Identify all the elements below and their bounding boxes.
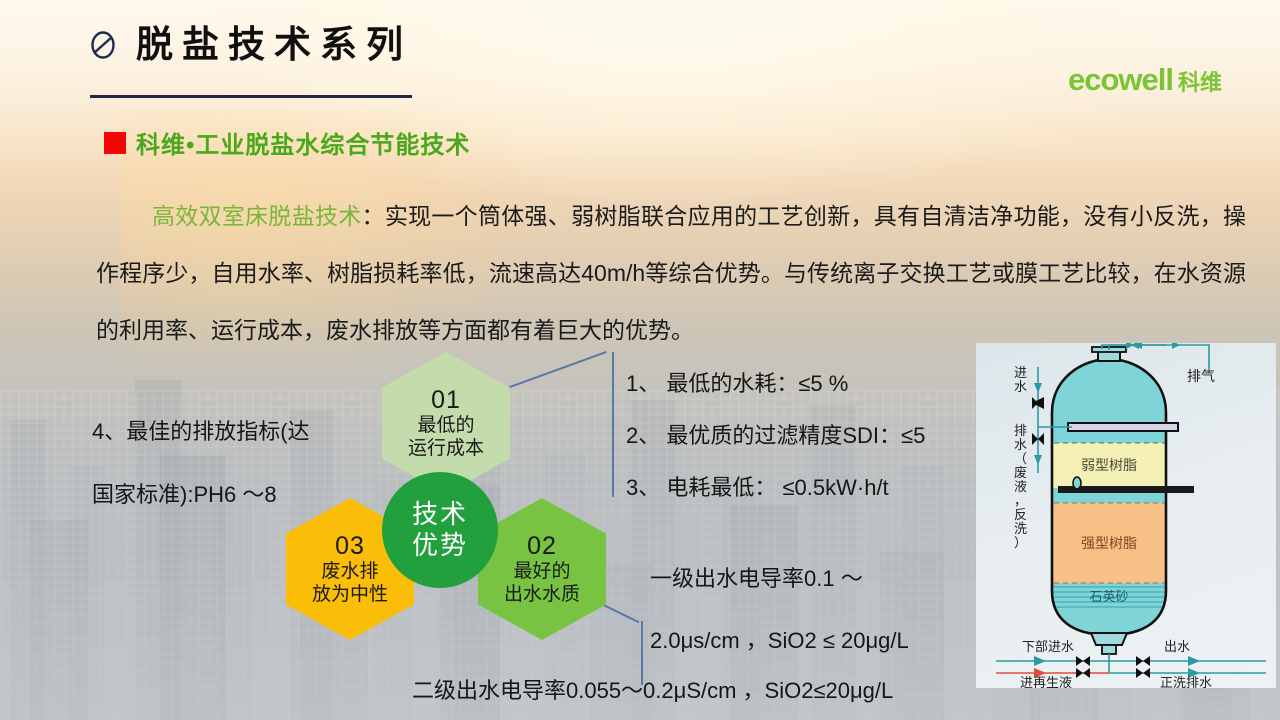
intro-paragraph: 高效双室床脱盐技术：实现一个筒体强、弱树脂联合应用的工艺创新，具有自清洁净功能，… bbox=[96, 188, 1246, 359]
hexagon-03-line2: 放为中性 bbox=[312, 584, 388, 606]
title-divider bbox=[90, 95, 412, 98]
diagram-label-drain: 排水（废液，反洗） bbox=[1014, 423, 1027, 550]
hexagon-advantage-02[interactable]: 02 最好的 出水水质 bbox=[478, 498, 606, 640]
callout-bottom: 二级出水电导率0.055～0.2μS/cm ，SiO2≤20μg/L bbox=[412, 668, 893, 714]
core-line2: 优势 bbox=[412, 530, 468, 561]
diagram-label-inlet: 进水 bbox=[1014, 365, 1027, 394]
callout-left-line2: 国家标准):PH6 ～8 bbox=[92, 463, 310, 526]
slide-canvas: 脱盐技术系列 科维•工业脱盐水综合节能技术 ecowell 科维 高效双室床脱盐… bbox=[0, 0, 1280, 720]
hexagon-01-line1: 最低的 bbox=[417, 415, 474, 437]
callout-right-list: 1、 最低的水耗：≤5 % 2、 最优质的过滤精度SDI：≤5 3、 电耗最低：… bbox=[626, 358, 925, 514]
advantage-hexagon-cluster: 01 最低的 运行成本 03 废水排 放为中性 02 最好的 出水水质 技术 优… bbox=[282, 352, 612, 652]
diagram-label-weak-resin: 弱型树脂 bbox=[1081, 457, 1137, 473]
hexagon-01-number: 01 bbox=[431, 386, 461, 415]
red-square-bullet-icon bbox=[104, 132, 126, 154]
hexagon-core-circle[interactable]: 技术 优势 bbox=[382, 472, 498, 588]
callout-mid-right-line1: 一级出水电导率0.1 ～ bbox=[650, 548, 909, 610]
diagram-label-bottom-inlet: 下部进水 bbox=[1022, 639, 1074, 654]
hexagon-01-line2: 运行成本 bbox=[408, 438, 484, 460]
callout-left-line1: 4、最佳的排放指标(达 bbox=[92, 400, 310, 463]
vessel-diagram-svg: 排气 进水 排水（废液，反洗） 弱型树脂 强型树脂 石英砂 bbox=[976, 343, 1276, 688]
callout-left: 4、最佳的排放指标(达 国家标准):PH6 ～8 bbox=[92, 400, 310, 526]
hexagon-03-number: 03 bbox=[335, 532, 365, 561]
diagram-label-outlet: 出水 bbox=[1164, 639, 1190, 654]
core-line1: 技术 bbox=[412, 499, 468, 530]
diagram-label-vent: 排气 bbox=[1187, 368, 1215, 384]
hexagon-02-line1: 最好的 bbox=[513, 561, 570, 583]
callout-right-item-1: 1、 最低的水耗：≤5 % bbox=[626, 358, 925, 410]
section-subtitle-label: 科维•工业脱盐水综合节能技术 bbox=[136, 125, 470, 160]
diagram-label-regenerant-in: 进再生液 bbox=[1020, 675, 1072, 688]
callout-mid-right-line2: 2.0μs/cm ，SiO2 ≤ 20μg/L bbox=[650, 610, 909, 672]
slide-header: 脱盐技术系列 bbox=[88, 26, 412, 63]
diagram-label-strong-resin: 强型树脂 bbox=[1081, 535, 1137, 551]
slashed-circle-icon bbox=[88, 30, 118, 60]
company-logo: ecowell 科维 bbox=[1068, 64, 1222, 95]
logo-text-en: ecowell bbox=[1068, 64, 1173, 95]
intro-paragraph-highlight: 高效双室床脱盐技术 bbox=[152, 203, 362, 229]
callout-right-item-2: 2、 最优质的过滤精度SDI：≤5 bbox=[626, 410, 925, 462]
hexagon-03-line1: 废水排 bbox=[321, 561, 378, 583]
hexagon-02-line2: 出水水质 bbox=[504, 584, 580, 606]
hexagon-02-number: 02 bbox=[527, 532, 557, 561]
section-subtitle: 科维•工业脱盐水综合节能技术 bbox=[104, 125, 470, 160]
callout-mid-right: 一级出水电导率0.1 ～ 2.0μs/cm ，SiO2 ≤ 20μg/L bbox=[650, 548, 909, 672]
logo-text-cn: 科维 bbox=[1178, 72, 1222, 94]
connector-line-top-vertical bbox=[612, 352, 614, 497]
page-title: 脱盐技术系列 bbox=[136, 26, 412, 63]
diagram-label-forward-wash-drain: 正洗排水 bbox=[1160, 675, 1212, 688]
vessel-process-diagram: 排气 进水 排水（废液，反洗） 弱型树脂 强型树脂 石英砂 bbox=[976, 343, 1276, 688]
callout-right-item-3: 3、 电耗最低： ≤0.5kW·h/t bbox=[626, 462, 925, 514]
diagram-label-quartz-sand: 石英砂 bbox=[1089, 589, 1128, 604]
